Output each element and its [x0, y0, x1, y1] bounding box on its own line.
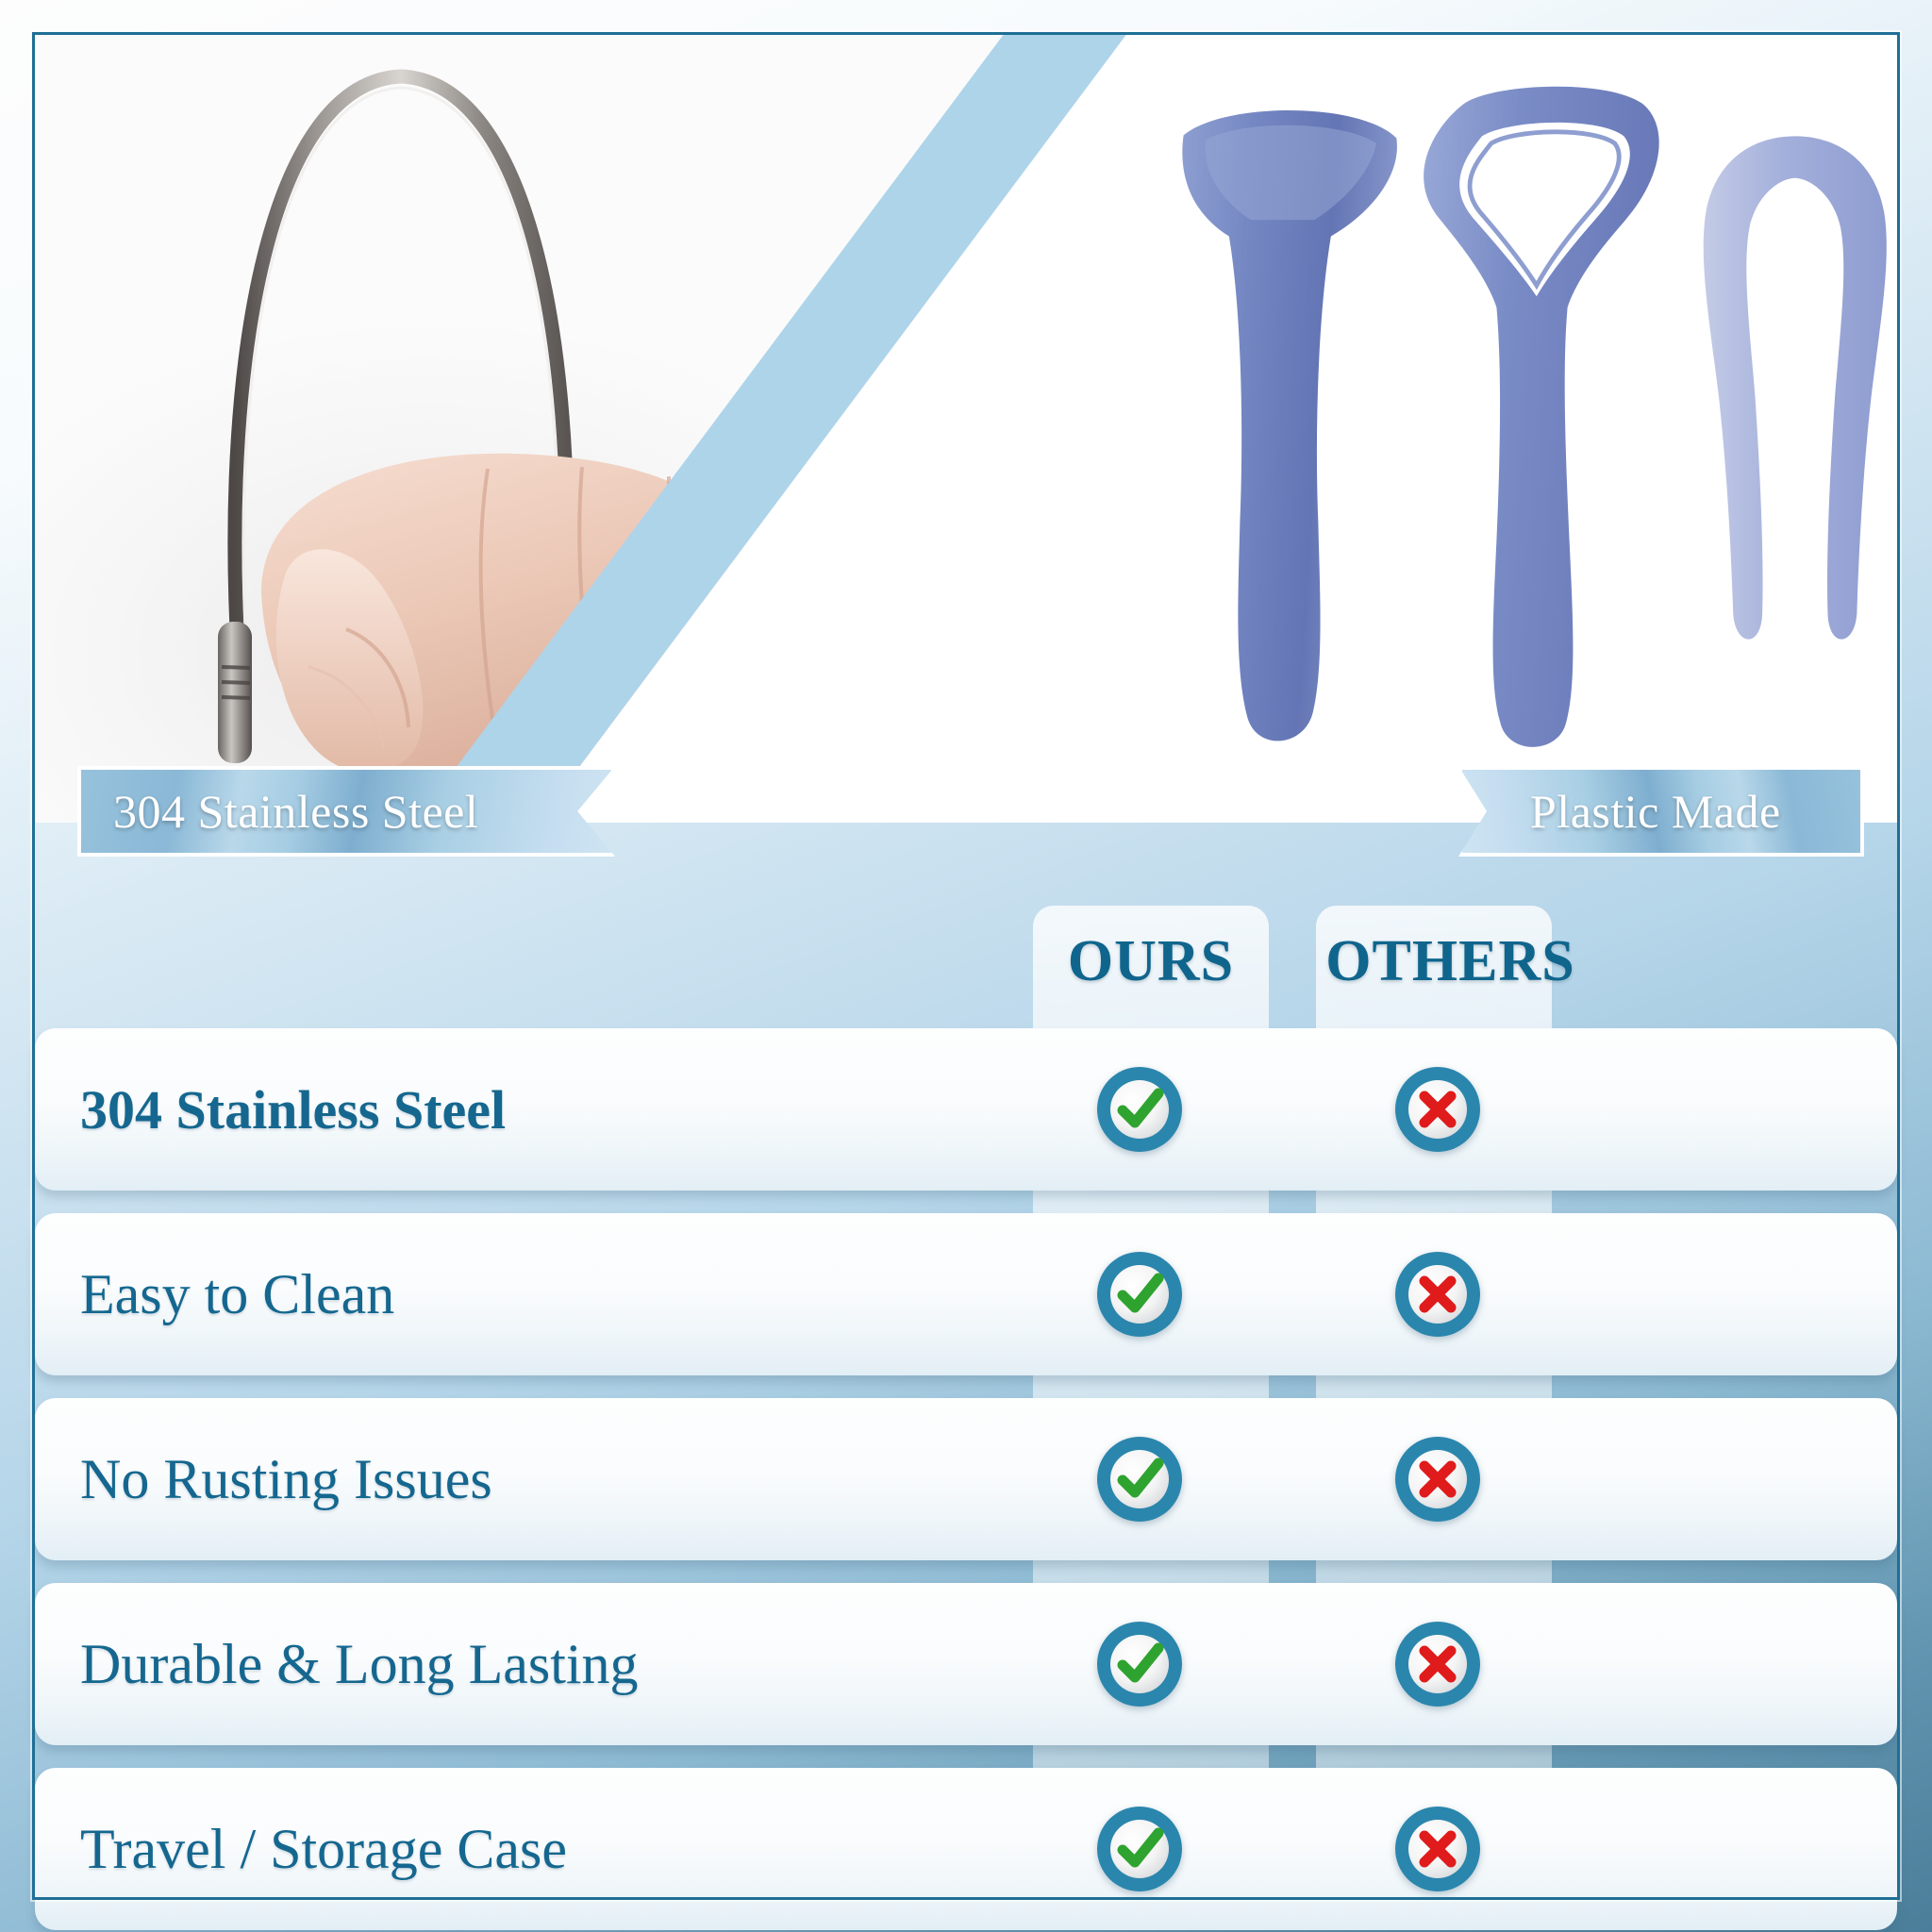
steel-banner-label: 304 Stainless Steel — [113, 784, 478, 839]
plastic-scrapers-illustration — [1096, 35, 1897, 823]
column-header-ours-label: OURS — [1068, 928, 1234, 995]
cross-circle-icon — [1391, 1062, 1485, 1157]
row-feature-label: 304 Stainless Steel — [35, 1078, 506, 1141]
cross-circle-icon — [1391, 1247, 1485, 1341]
table-row: Durable & Long Lasting — [35, 1583, 1897, 1745]
row-feature-label: Travel / Storage Case — [35, 1817, 567, 1882]
check-circle-icon — [1092, 1432, 1187, 1526]
table-row: Travel / Storage Case — [35, 1768, 1897, 1930]
table-row: 304 Stainless Steel — [35, 1028, 1897, 1191]
steel-banner: 304 Stainless Steel — [77, 766, 615, 857]
plastic-banner: Plastic Made — [1458, 766, 1864, 857]
check-circle-icon — [1092, 1247, 1187, 1341]
row-feature-label: Easy to Clean — [35, 1262, 394, 1327]
check-circle-icon — [1092, 1062, 1187, 1157]
column-header-others-label: OTHERS — [1325, 928, 1574, 995]
cross-circle-icon — [1391, 1802, 1485, 1896]
table-row: No Rusting Issues — [35, 1398, 1897, 1560]
cross-circle-icon — [1391, 1432, 1485, 1526]
check-circle-icon — [1092, 1617, 1187, 1711]
row-feature-label: No Rusting Issues — [35, 1447, 492, 1512]
column-header-others: OTHERS — [1316, 906, 1585, 1017]
row-feature-label: Durable & Long Lasting — [35, 1632, 639, 1697]
column-header-ours: OURS — [1033, 906, 1269, 1017]
plastic-banner-label: Plastic Made — [1530, 784, 1781, 839]
cross-circle-icon — [1391, 1617, 1485, 1711]
hero-section — [35, 35, 1897, 823]
comparison-rows: 304 Stainless Steel Easy to Clean No Rus… — [35, 1028, 1897, 1876]
check-circle-icon — [1092, 1802, 1187, 1896]
comparison-table: OURS OTHERS 304 Stainless Steel Easy to … — [35, 906, 1897, 1897]
table-row: Easy to Clean — [35, 1213, 1897, 1375]
